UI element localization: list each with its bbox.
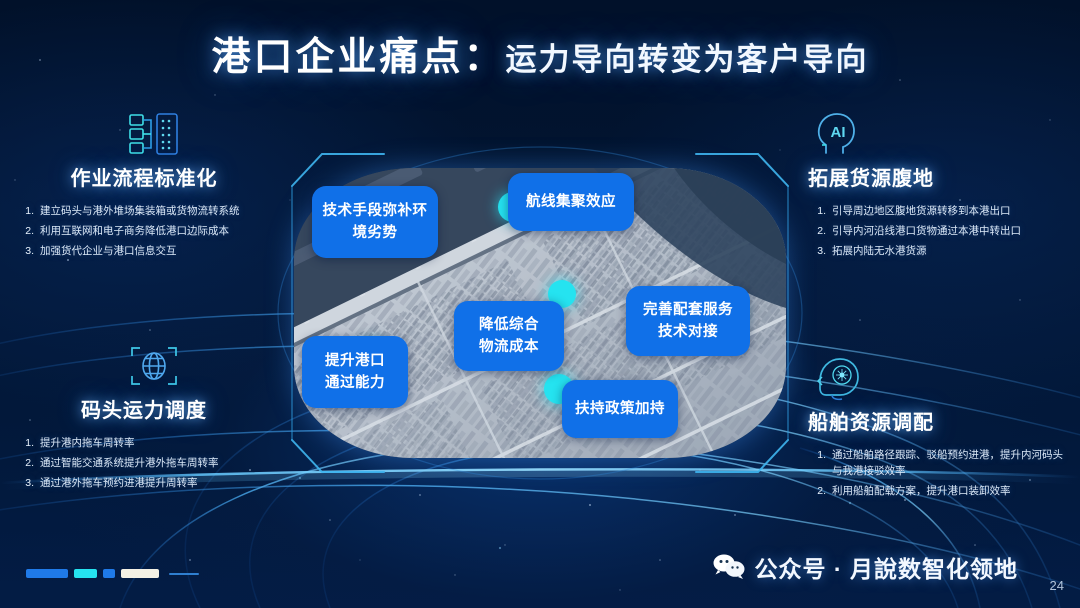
- bubble-line: 境劣势: [353, 222, 398, 244]
- ai-head-icon: AI: [802, 108, 1070, 160]
- list-number: 3.: [10, 243, 34, 259]
- progress-segment-4[interactable]: [121, 569, 159, 578]
- watermark: 公众号 · 月說数智化领地: [712, 550, 1018, 584]
- list-number: 2.: [10, 223, 34, 239]
- list-item: 1.通过船舶路径跟踪、驳船预约进港，提升内河码头与我港接驳效率: [802, 447, 1070, 479]
- svg-text:AI: AI: [831, 124, 846, 141]
- bubble-line: 提升港口: [325, 350, 385, 372]
- bubble-route-cluster[interactable]: 航线集聚效应: [508, 173, 634, 231]
- bubble-line: 技术对接: [658, 321, 718, 343]
- list-text: 通过智能交通系统提升港外拖车周转率: [40, 455, 278, 471]
- panel-vessel-resource-allocation: 船舶资源调配 1.通过船舶路径跟踪、驳船预约进港，提升内河码头与我港接驳效率 2…: [802, 352, 1070, 503]
- list-text: 通过船舶路径跟踪、驳船预约进港，提升内河码头与我港接驳效率: [832, 447, 1070, 479]
- title-sub: 运力导向转变为客户导向: [506, 42, 869, 77]
- page-number: 24: [1050, 578, 1064, 593]
- progress-segment-2[interactable]: [74, 569, 97, 578]
- list-item: 3.加强货代企业与港口信息交互: [10, 243, 278, 259]
- wechat-icon: [712, 553, 746, 581]
- list-item: 1.引导周边地区腹地货源转移到本港出口: [802, 203, 1070, 219]
- list-number: 1.: [802, 447, 826, 479]
- progress-segment-3[interactable]: [103, 569, 115, 578]
- bubble-line: 技术手段弥补环: [323, 200, 428, 222]
- bubble-line: 降低综合: [479, 314, 539, 336]
- brain-circuit-head-icon: [802, 352, 1070, 404]
- panel-terminal-capacity-dispatch: 码头运力调度 1.提升港内拖车周转率 2.通过智能交通系统提升港外拖车周转率 3…: [10, 340, 278, 495]
- list-item: 1.提升港内拖车周转率: [10, 435, 278, 451]
- list-number: 2.: [802, 483, 826, 499]
- watermark-text: 公众号 · 月說数智化领地: [755, 550, 1018, 584]
- panel-title: 码头运力调度: [10, 394, 278, 423]
- bubble-lower-logistics-cost[interactable]: 降低综合 物流成本: [454, 301, 564, 371]
- list-text: 提升港内拖车周转率: [40, 435, 278, 451]
- list-text: 通过港外拖车预约进港提升周转率: [40, 475, 278, 491]
- bubble-line: 物流成本: [479, 336, 539, 358]
- list-item: 2.通过智能交通系统提升港外拖车周转率: [10, 455, 278, 471]
- panel-list: 1.引导周边地区腹地货源转移到本港出口 2.引导内河沿线港口货物通过本港中转出口…: [802, 203, 1070, 259]
- progress-indicator[interactable]: [26, 569, 199, 578]
- bubble-policy-support[interactable]: 扶持政策加持: [562, 380, 678, 438]
- bubble-port-throughput[interactable]: 提升港口 通过能力: [302, 336, 408, 408]
- list-number: 1.: [10, 203, 34, 219]
- flowchart-server-icon: [10, 108, 278, 160]
- list-text: 利用船舶配载方案，提升港口装卸效率: [832, 483, 1070, 499]
- list-number: 3.: [802, 243, 826, 259]
- list-text: 引导内河沿线港口货物通过本港中转出口: [832, 223, 1070, 239]
- list-text: 建立码头与港外堆场集装箱或货物流转系统: [40, 203, 278, 219]
- list-text: 拓展内陆无水港货源: [832, 243, 1070, 259]
- panel-expand-cargo-hinterland: AI 拓展货源腹地 1.引导周边地区腹地货源转移到本港出口 2.引导内河沿线港口…: [802, 108, 1070, 263]
- list-item: 3.拓展内陆无水港货源: [802, 243, 1070, 259]
- panel-list: 1.建立码头与港外堆场集装箱或货物流转系统 2.利用互联网和电子商务降低港口边际…: [10, 203, 278, 259]
- bubble-support-service[interactable]: 完善配套服务 技术对接: [626, 286, 750, 356]
- progress-segment-1[interactable]: [26, 569, 68, 578]
- list-text: 利用互联网和电子商务降低港口边际成本: [40, 223, 278, 239]
- list-item: 2.引导内河沿线港口货物通过本港中转出口: [802, 223, 1070, 239]
- list-number: 3.: [10, 475, 34, 491]
- list-number: 2.: [802, 223, 826, 239]
- globe-scan-icon: [10, 340, 278, 392]
- panel-process-standardization: 作业流程标准化 1.建立码头与港外堆场集装箱或货物流转系统 2.利用互联网和电子…: [10, 108, 278, 263]
- bubble-tech-env[interactable]: 技术手段弥补环 境劣势: [312, 186, 438, 258]
- list-text: 加强货代企业与港口信息交互: [40, 243, 278, 259]
- bubble-line: 扶持政策加持: [575, 398, 665, 420]
- list-number: 1.: [802, 203, 826, 219]
- panel-title: 作业流程标准化: [10, 162, 278, 191]
- page-title: 港口企业痛点：运力导向转变为客户导向: [0, 26, 1080, 82]
- bubble-line: 通过能力: [325, 372, 385, 394]
- list-item: 2.利用互联网和电子商务降低港口边际成本: [10, 223, 278, 239]
- panel-list: 1.提升港内拖车周转率 2.通过智能交通系统提升港外拖车周转率 3.通过港外拖车…: [10, 435, 278, 491]
- central-visual-stage: 技术手段弥补环 境劣势 航线集聚效应 降低综合 物流成本 完善配套服务 技术对接…: [276, 154, 804, 472]
- list-number: 1.: [10, 435, 34, 451]
- panel-title: 船舶资源调配: [802, 406, 1070, 435]
- bubble-line: 航线集聚效应: [526, 191, 616, 213]
- list-text: 引导周边地区腹地货源转移到本港出口: [832, 203, 1070, 219]
- bubble-line: 完善配套服务: [643, 299, 733, 321]
- list-number: 2.: [10, 455, 34, 471]
- panel-list: 1.通过船舶路径跟踪、驳船预约进港，提升内河码头与我港接驳效率 2.利用船舶配载…: [802, 447, 1070, 499]
- title-main: 港口企业痛点：: [211, 36, 505, 79]
- panel-title: 拓展货源腹地: [802, 162, 1070, 191]
- progress-trailing-line: [169, 573, 199, 575]
- list-item: 2.利用船舶配载方案，提升港口装卸效率: [802, 483, 1070, 499]
- list-item: 1.建立码头与港外堆场集装箱或货物流转系统: [10, 203, 278, 219]
- list-item: 3.通过港外拖车预约进港提升周转率: [10, 475, 278, 491]
